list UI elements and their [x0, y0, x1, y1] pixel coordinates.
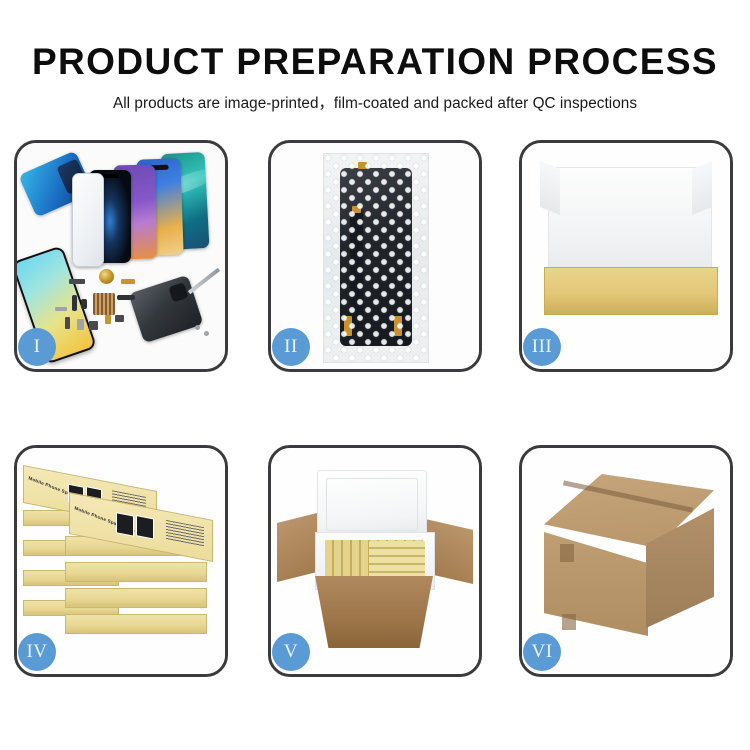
screen-protector-image: [72, 173, 104, 267]
inner-boxes-row-image: [369, 541, 425, 581]
carton-tape-image: [562, 614, 576, 630]
ribbon-part-image: [117, 295, 135, 300]
screw-image: [204, 331, 209, 336]
step-badge-4: IV: [18, 633, 56, 671]
camera-part-image: [115, 315, 124, 322]
gold-connector-image: [121, 279, 135, 284]
box-lid-image: [548, 167, 712, 273]
speaker-part-image: [89, 321, 98, 330]
step-badge-1: I: [18, 328, 56, 366]
step-panel-6[interactable]: VI: [519, 445, 733, 677]
screwdriver-image: [188, 268, 220, 295]
page-header: PRODUCT PREPARATION PROCESS All products…: [0, 0, 750, 132]
connector-part-image: [69, 279, 85, 284]
step-panel-3[interactable]: III: [519, 140, 733, 372]
page-title: PRODUCT PREPARATION PROCESS: [0, 0, 750, 82]
step-panel-5[interactable]: V: [268, 445, 482, 677]
box-spec-lines: [166, 520, 204, 547]
box-product-photo: [136, 515, 154, 539]
process-step-grid: I II: [14, 140, 736, 680]
small-part-image: [77, 319, 84, 330]
step-badge-6: VI: [523, 633, 561, 671]
page-subtitle: All products are image-printed，film-coat…: [0, 82, 750, 113]
stacked-box-image: [65, 588, 207, 608]
step-badge-5: V: [272, 633, 310, 671]
gold-part-image: [105, 315, 111, 324]
phone-back-housing-image: [128, 275, 203, 344]
stacked-box-image: [65, 562, 207, 582]
small-part-image: [65, 317, 70, 329]
step-panel-1[interactable]: I: [14, 140, 228, 372]
bracket-part-image: [55, 307, 67, 311]
screw-image: [195, 325, 200, 330]
box-product-photo: [116, 512, 134, 536]
flex-cable-image: [72, 295, 77, 311]
step-badge-3: III: [523, 328, 561, 366]
coil-part-image: [99, 269, 114, 284]
step-badge-2: II: [272, 328, 310, 366]
yellow-tray-image: [544, 267, 718, 315]
carton-body-image: [307, 576, 441, 648]
step-panel-2[interactable]: II: [268, 140, 482, 372]
bubble-bag-image: [323, 153, 429, 363]
chip-part-image: [93, 293, 115, 315]
bubble-texture: [324, 154, 428, 362]
box-flap-right-image: [692, 161, 712, 215]
carton-tape-image: [560, 544, 574, 562]
stacked-box-image: [65, 614, 207, 634]
step-panel-4[interactable]: Mobile Phone Spare Parts Mobile Phone Sp…: [14, 445, 228, 677]
box-flap-left-image: [540, 161, 560, 215]
flex-cable-image: [81, 299, 87, 309]
